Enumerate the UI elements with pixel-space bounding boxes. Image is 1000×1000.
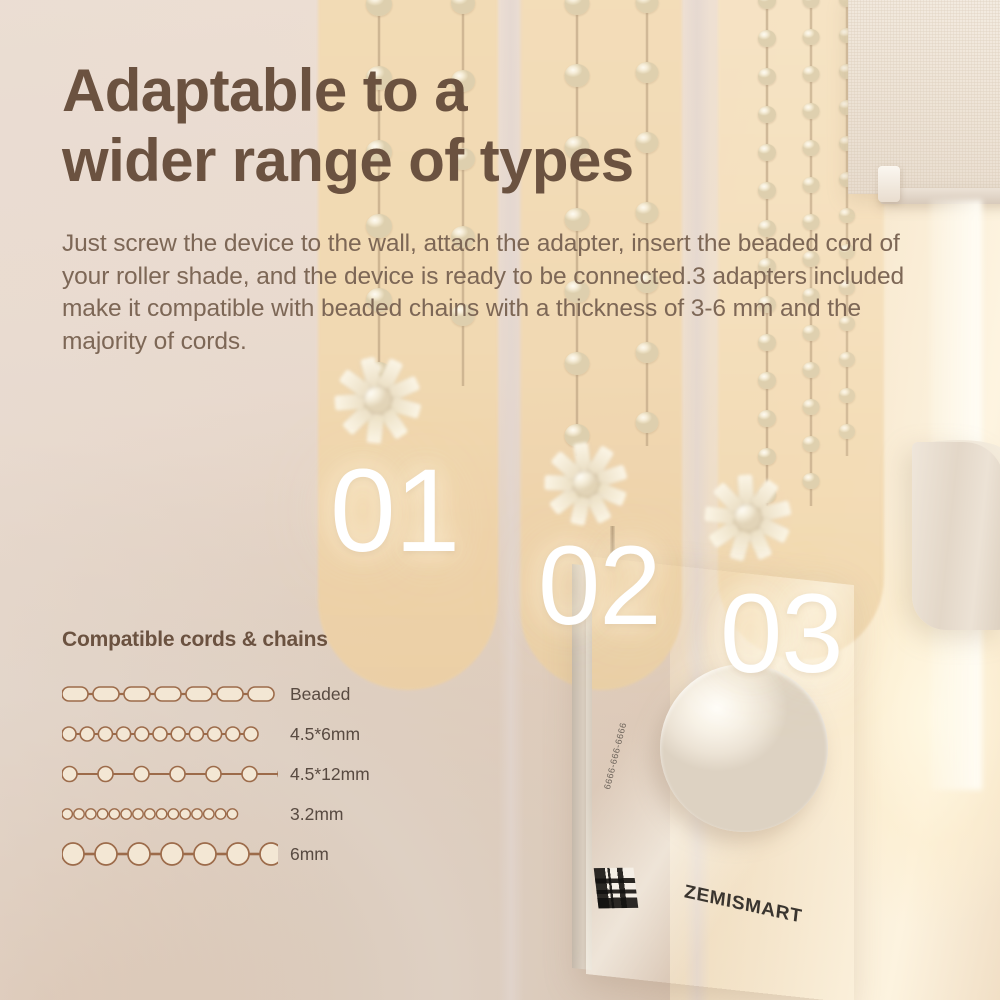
step-marker-02: 02 [538, 530, 661, 642]
cord-row-label: Beaded [290, 684, 350, 705]
chain-bead [803, 0, 820, 8]
compatible-cords-title: Compatible cords & chains [62, 628, 452, 652]
cord-row: Beaded [62, 674, 452, 714]
chain-bead [758, 182, 776, 199]
chain-bead [803, 473, 820, 489]
chain-round-tight-icon [62, 719, 278, 749]
chain-bead [839, 208, 855, 223]
chain-bead [758, 144, 776, 161]
chain-bead [803, 103, 820, 119]
compatible-cords-list: Beaded4.5*6mm4.5*12mm3.2mm6mm [62, 674, 452, 874]
chain-bead [366, 0, 392, 16]
product-feature-graphic: 6666-666-6666 ZEMISMART 01 02 03 Adaptab… [0, 0, 1000, 1000]
chain-large-round-icon [62, 839, 278, 869]
chain-bead [758, 68, 776, 85]
chain-bead [803, 399, 820, 415]
chain-bead [451, 0, 475, 14]
wall-sconce [912, 442, 1000, 630]
fabric-texture [848, 0, 1000, 194]
chain-micro-beads-icon [62, 799, 278, 829]
chain-round-spaced-icon [62, 759, 278, 789]
chain-oval-beads-icon [62, 679, 278, 709]
chain-bead [636, 412, 659, 433]
chain-bead [758, 372, 776, 389]
chain-bead [803, 177, 820, 193]
chain-bead [758, 410, 776, 427]
cord-row: 3.2mm [62, 794, 452, 834]
adapter-wheel-2 [534, 432, 638, 536]
page-title: Adaptable to a wider range of types [62, 56, 742, 195]
chain-bead [803, 436, 820, 452]
chain-bead [803, 66, 820, 82]
cord-row-label: 4.5*12mm [290, 764, 370, 785]
chain-round-tight-icon [62, 719, 278, 749]
chain-round-spaced-icon [62, 759, 278, 789]
chain-large-round-icon [62, 839, 278, 869]
chain-bead [758, 30, 776, 47]
chain-bead [803, 362, 820, 378]
step-marker-03: 03 [720, 578, 843, 690]
chain-bead [758, 448, 776, 465]
adapter-wheel-3 [697, 467, 799, 569]
cord-row-label: 4.5*6mm [290, 724, 360, 745]
chain-bead [636, 202, 659, 223]
chain-bead [565, 0, 590, 15]
cord-row: 6mm [62, 834, 452, 874]
chain-bead [803, 140, 820, 156]
cord-row-label: 3.2mm [290, 804, 343, 825]
cord-row-label: 6mm [290, 844, 329, 865]
chain-bead [839, 424, 855, 439]
chain-bead [636, 0, 659, 13]
qr-code-icon [594, 868, 639, 909]
roller-shade-bracket [878, 166, 900, 202]
chain-oval-beads-icon [62, 679, 278, 709]
chain-bead [839, 388, 855, 403]
headline-line-2: wider range of types [62, 126, 742, 196]
chain-micro-beads-icon [62, 799, 278, 829]
roller-shade-fabric [848, 0, 1000, 194]
chain-bead [758, 106, 776, 123]
description-paragraph: Just screw the device to the wall, attac… [62, 228, 922, 358]
step-marker-01: 01 [330, 452, 459, 570]
headline-line-1: Adaptable to a [62, 57, 467, 124]
cord-row: 4.5*6mm [62, 714, 452, 754]
cord-row: 4.5*12mm [62, 754, 452, 794]
chain-bead [803, 29, 820, 45]
chain-bead [758, 0, 776, 9]
compatible-cords-section: Compatible cords & chains Beaded4.5*6mm4… [62, 628, 452, 874]
